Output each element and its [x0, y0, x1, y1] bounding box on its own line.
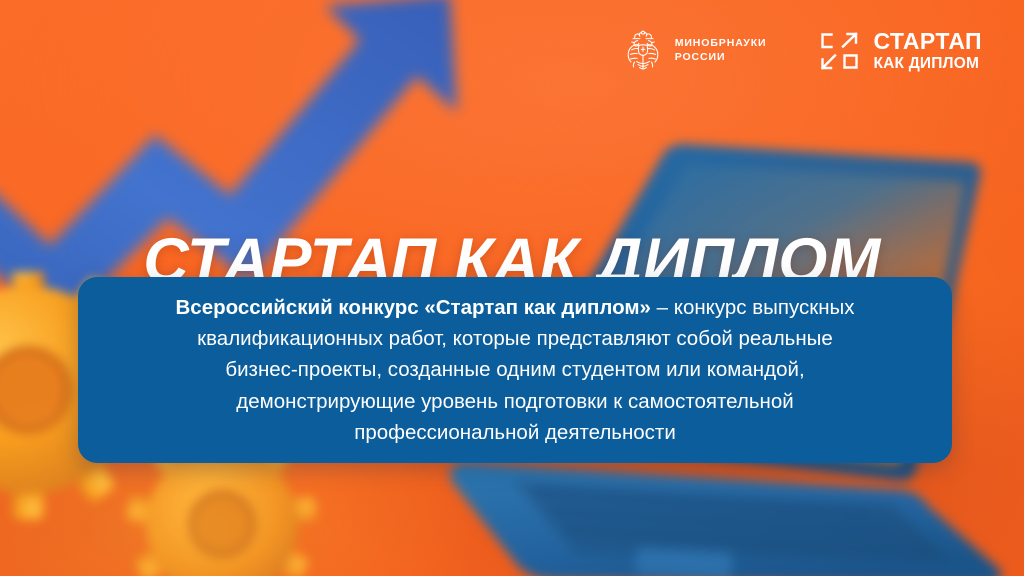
- program-logo-line2: КАК ДИПЛОМ: [873, 56, 982, 72]
- poster-slide: МИНОБРНАУКИ РОССИИ СТАРТАП: [0, 0, 1024, 576]
- description-line-2: квалификационных работ, которые представ…: [175, 323, 854, 354]
- description-panel: Всероссийский конкурс «Стартап как дипло…: [78, 277, 952, 463]
- description-line-5: профессиональной деятельности: [175, 417, 854, 448]
- description-line-3: бизнес-проекты, созданные одним студенто…: [175, 354, 854, 385]
- description-line-1-rest: – конкурс выпускных: [651, 296, 855, 319]
- description-lead: Всероссийский конкурс «Стартап как дипло…: [175, 296, 650, 319]
- program-logo: СТАРТАП КАК ДИПЛОМ: [819, 30, 982, 72]
- russian-coat-of-arms-icon: [622, 28, 664, 74]
- startup-as-diploma-mark-icon: [819, 31, 861, 71]
- ministry-logo-text: МИНОБРНАУКИ РОССИИ: [675, 37, 767, 65]
- program-logo-text: СТАРТАП КАК ДИПЛОМ: [873, 30, 982, 72]
- program-logo-line1: СТАРТАП: [873, 30, 982, 53]
- description-line-1: Всероссийский конкурс «Стартап как дипло…: [175, 292, 854, 323]
- header-logos: МИНОБРНАУКИ РОССИИ СТАРТАП: [622, 28, 982, 74]
- ministry-logo: МИНОБРНАУКИ РОССИИ: [622, 28, 767, 74]
- description-line-4: демонстрирующие уровень подготовки к сам…: [175, 386, 854, 417]
- description-text: Всероссийский конкурс «Стартап как дипло…: [147, 292, 882, 448]
